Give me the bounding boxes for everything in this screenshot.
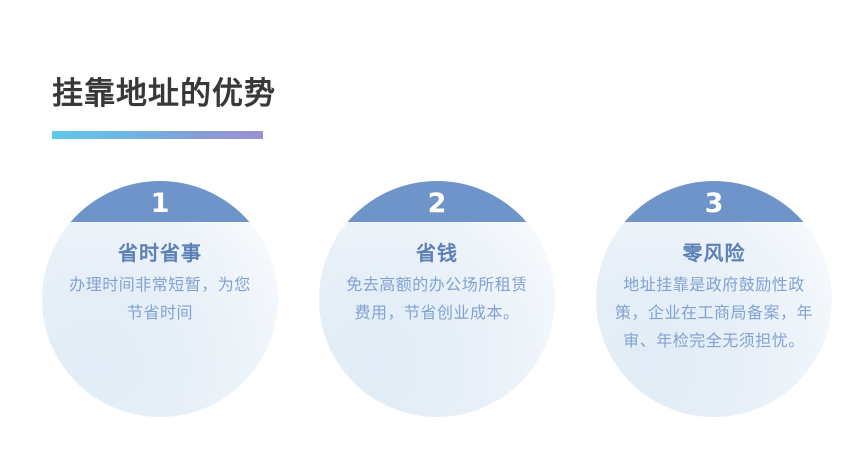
- card-text-1: 办理时间非常短暂，为您节省时间: [56, 272, 264, 328]
- card-number-3: 3: [705, 183, 724, 224]
- card-body-1: 省时省事 办理时间非常短暂，为您节省时间: [42, 222, 278, 328]
- card-body-3: 零风险 地址挂靠是政府鼓励性政策，企业在工商局备案，年审、年检完全无须担忧。: [596, 222, 832, 356]
- card-heading-2: 省钱: [333, 241, 541, 267]
- card-text-3: 地址挂靠是政府鼓励性政策，企业在工商局备案，年审、年检完全无须担忧。: [610, 272, 818, 356]
- card-body-2: 省钱 免去高额的办公场所租赁费用，节省创业成本。: [319, 222, 555, 328]
- card-text-2: 免去高额的办公场所租赁费用，节省创业成本。: [333, 272, 541, 328]
- card-number-1: 1: [151, 183, 170, 224]
- advantage-card-1: 1 省时省事 办理时间非常短暂，为您节省时间: [42, 181, 278, 417]
- card-number-2: 2: [428, 183, 447, 224]
- card-heading-3: 零风险: [610, 241, 818, 267]
- advantages-section: 挂靠地址的优势 1 省时省事 办理时间非常短暂，为您节省时间 2 省钱 免去高额…: [0, 0, 868, 456]
- page-title: 挂靠地址的优势: [52, 74, 276, 114]
- section-header: 挂靠地址的优势: [52, 74, 276, 139]
- advantage-card-3: 3 零风险 地址挂靠是政府鼓励性政策，企业在工商局备案，年审、年检完全无须担忧。: [596, 181, 832, 417]
- advantage-card-2: 2 省钱 免去高额的办公场所租赁费用，节省创业成本。: [319, 181, 555, 417]
- advantage-card-list: 1 省时省事 办理时间非常短暂，为您节省时间 2 省钱 免去高额的办公场所租赁费…: [42, 181, 832, 421]
- title-underline-bar: [52, 131, 263, 139]
- card-number-cap-1: 1: [42, 181, 278, 222]
- card-number-cap-3: 3: [596, 181, 832, 222]
- card-heading-1: 省时省事: [56, 241, 264, 267]
- card-number-cap-2: 2: [319, 181, 555, 222]
